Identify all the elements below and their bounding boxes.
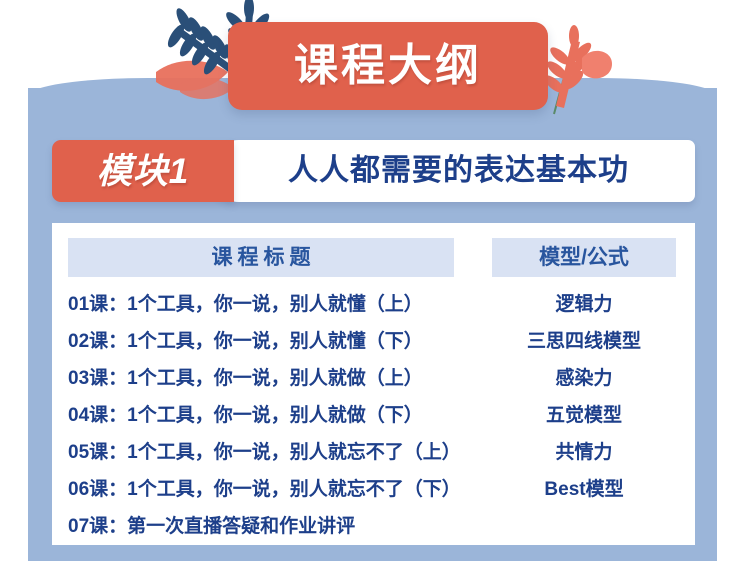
lesson-title: 02课：1个工具，你一说，别人就懂（下）	[68, 323, 478, 360]
page-title-banner: 课程大纲	[228, 22, 548, 110]
table-row: 02课：1个工具，你一说，别人就懂（下） 三思四线模型	[52, 323, 695, 360]
lesson-model: 共情力	[492, 434, 676, 471]
module-title-container: 人人都需要的表达基本功	[208, 140, 695, 202]
module-label: 模块1	[97, 154, 189, 189]
lesson-title: 05课：1个工具，你一说，别人就忘不了（上）	[68, 434, 478, 471]
lesson-model: 感染力	[492, 360, 676, 397]
course-syllabus-poster: 课程大纲 人人都需要的表达基本功 模块1 课程标题 模型/公式 01课：1个工具…	[0, 0, 750, 561]
column-header-model: 模型/公式	[492, 238, 676, 277]
lesson-title: 04课：1个工具，你一说，别人就做（下）	[68, 397, 478, 434]
table-body: 01课：1个工具，你一说，别人就懂（上） 逻辑力 02课：1个工具，你一说，别人…	[52, 286, 695, 545]
module-label-container: 模块1	[52, 140, 234, 202]
table-header-row: 课程标题 模型/公式	[52, 238, 695, 277]
lesson-title: 01课：1个工具，你一说，别人就懂（上）	[68, 286, 478, 323]
lesson-table-card: 课程标题 模型/公式 01课：1个工具，你一说，别人就懂（上） 逻辑力 02课：…	[52, 223, 695, 545]
table-row: 04课：1个工具，你一说，别人就做（下） 五觉模型	[52, 397, 695, 434]
lesson-model	[492, 508, 676, 545]
column-header-title-label: 课程标题	[207, 247, 316, 268]
page-title: 课程大纲	[294, 44, 482, 88]
column-header-model-label: 模型/公式	[539, 247, 629, 268]
lesson-model: Best模型	[492, 471, 676, 508]
module-title: 人人都需要的表达基本功	[288, 156, 629, 186]
table-row: 07课：第一次直播答疑和作业讲评	[52, 508, 695, 545]
module-banner: 人人都需要的表达基本功 模块1	[52, 140, 695, 202]
table-row: 03课：1个工具，你一说，别人就做（上） 感染力	[52, 360, 695, 397]
column-header-title: 课程标题	[68, 238, 454, 277]
table-row: 05课：1个工具，你一说，别人就忘不了（上） 共情力	[52, 434, 695, 471]
lesson-model: 三思四线模型	[492, 323, 676, 360]
lesson-model: 逻辑力	[492, 286, 676, 323]
table-row: 01课：1个工具，你一说，别人就懂（上） 逻辑力	[52, 286, 695, 323]
lesson-title: 03课：1个工具，你一说，别人就做（上）	[68, 360, 478, 397]
lesson-title: 07课：第一次直播答疑和作业讲评	[68, 508, 478, 545]
lesson-title: 06课：1个工具，你一说，别人就忘不了（下）	[68, 471, 478, 508]
table-row: 06课：1个工具，你一说，别人就忘不了（下） Best模型	[52, 471, 695, 508]
lesson-model: 五觉模型	[492, 397, 676, 434]
